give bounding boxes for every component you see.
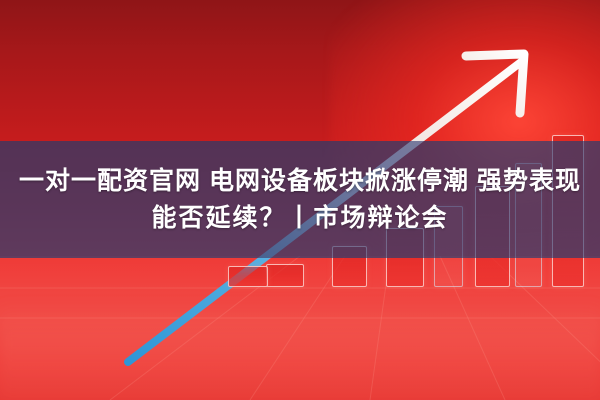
front-highlight-bar <box>228 266 268 287</box>
headline-line-2: 能否延续？丨市场辩论会 <box>151 202 448 235</box>
banner-image: 一对一配资官网 电网设备板块掀涨停潮 强势表现 能否延续？丨市场辩论会 <box>0 0 600 400</box>
headline-band: 一对一配资官网 电网设备板块掀涨停潮 强势表现 能否延续？丨市场辩论会 <box>0 141 600 258</box>
chart-bar-1 <box>266 264 304 287</box>
headline-line-1: 一对一配资官网 电网设备板块掀涨停潮 强势表现 <box>19 165 581 198</box>
